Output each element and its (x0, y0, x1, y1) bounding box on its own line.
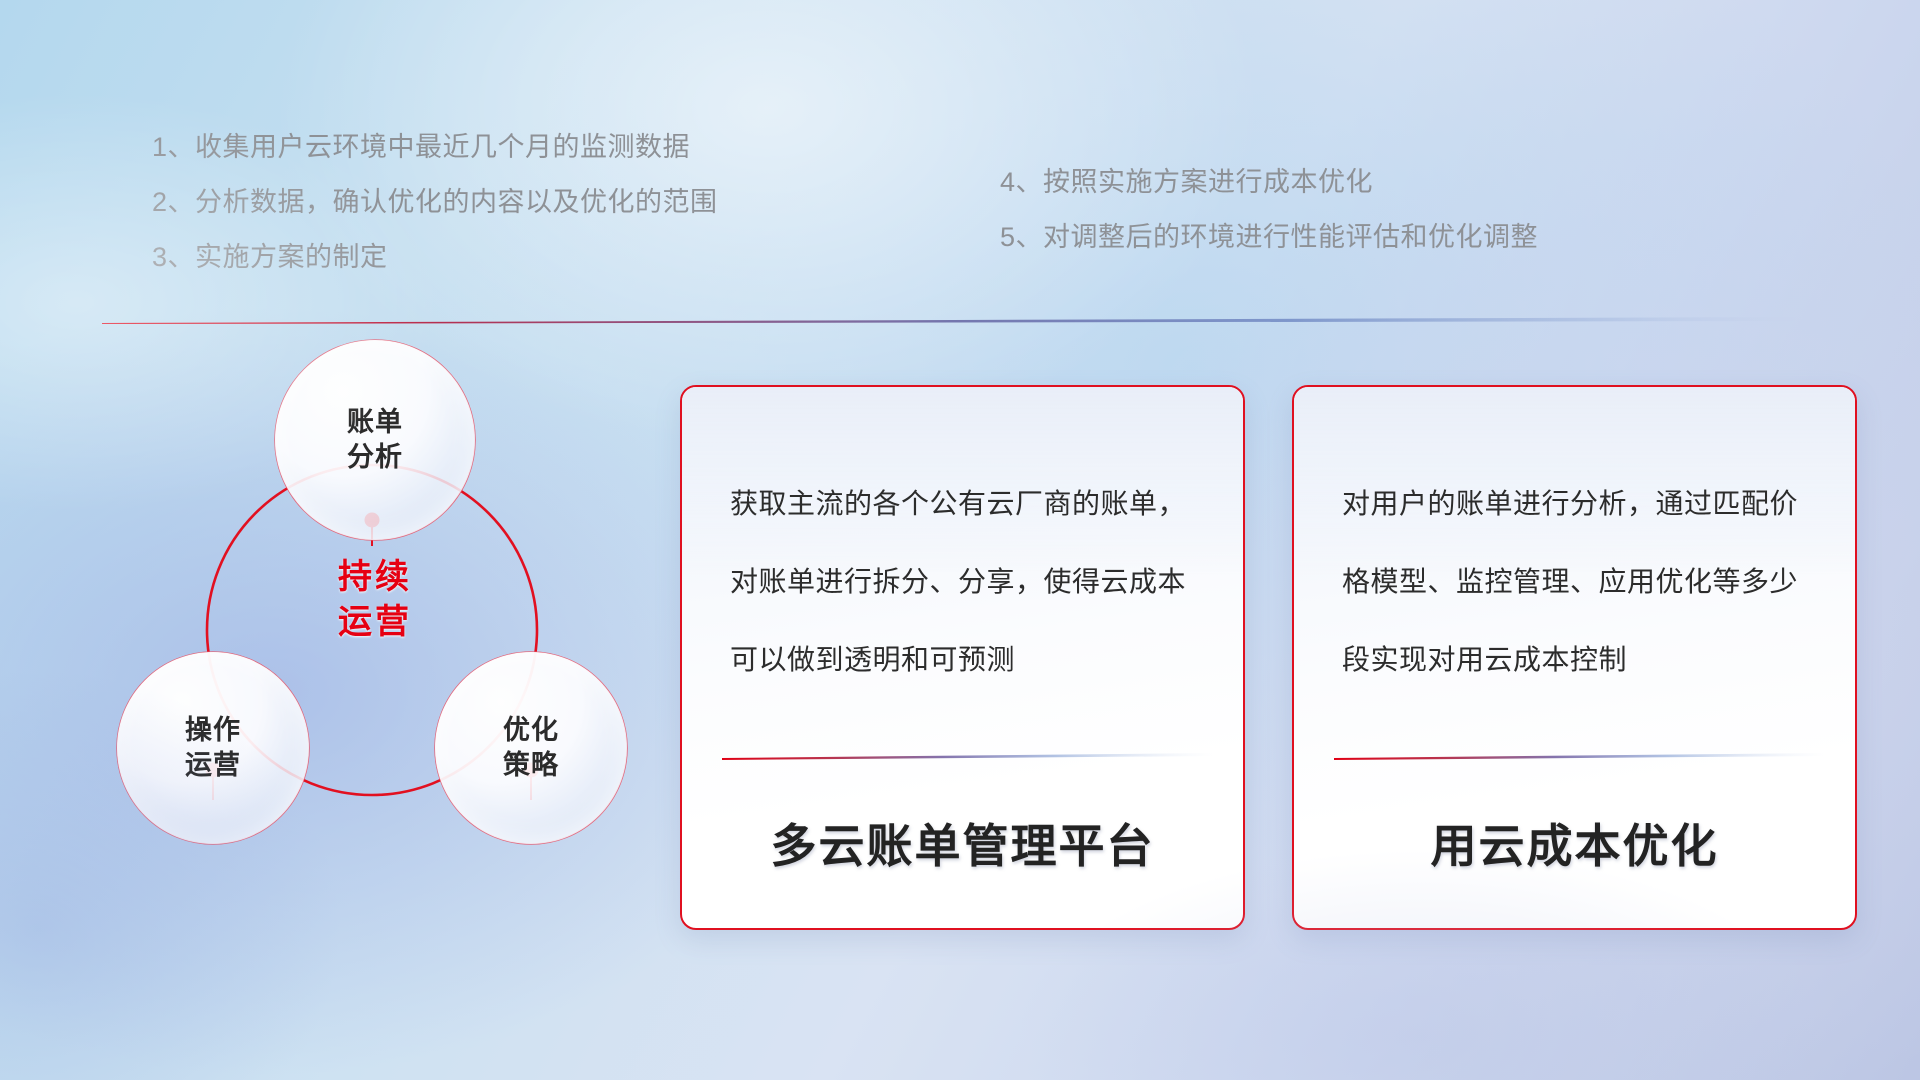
venn-bubble-operations[interactable]: 操作 运营 (117, 652, 309, 844)
card-2-title: 用云成本优化 (1294, 810, 1855, 876)
venn-diagram: 账单 分析 操作 运营 优化 策略 持续 运营 (95, 340, 655, 940)
venn-center-line2: 运营 (295, 600, 455, 645)
slide-root: 1、收集用户云环境中最近几个月的监测数据 2、分析数据，确认优化的内容以及优化的… (0, 0, 1920, 1080)
venn-bubble-top-line1: 账单 (347, 405, 403, 440)
card-2-rule (1334, 751, 1824, 760)
venn-bubble-right-line2: 策略 (503, 748, 559, 783)
card-1-body: 获取主流的各个公有云厂商的账单，对账单进行拆分、分享，使得云成本可以做到透明和可… (682, 387, 1243, 699)
section-divider (102, 313, 1802, 324)
card-2-body: 对用户的账单进行分析，通过匹配价格模型、监控管理、应用优化等多少段实现对用云成本… (1294, 387, 1855, 699)
card-1-rule (722, 751, 1212, 760)
card-multi-cloud-billing-platform[interactable]: 获取主流的各个公有云厂商的账单，对账单进行拆分、分享，使得云成本可以做到透明和可… (680, 385, 1245, 930)
step-item-1: 1、收集用户云环境中最近几个月的监测数据 (152, 120, 718, 175)
venn-bubble-optimization-strategy[interactable]: 优化 策略 (435, 652, 627, 844)
step-item-3: 3、实施方案的制定 (152, 230, 718, 285)
venn-center-label: 持续 运营 (295, 555, 455, 645)
step-item-4: 4、按照实施方案进行成本优化 (1000, 155, 1538, 210)
venn-bubble-left-line1: 操作 (185, 713, 241, 748)
steps-right-column: 4、按照实施方案进行成本优化 5、对调整后的环境进行性能评估和优化调整 (1000, 155, 1538, 265)
venn-bubble-left-line2: 运营 (185, 748, 241, 783)
card-cloud-cost-optimization[interactable]: 对用户的账单进行分析，通过匹配价格模型、监控管理、应用优化等多少段实现对用云成本… (1292, 385, 1857, 930)
steps-left-column: 1、收集用户云环境中最近几个月的监测数据 2、分析数据，确认优化的内容以及优化的… (152, 120, 718, 285)
card-1-title: 多云账单管理平台 (682, 810, 1243, 876)
step-item-5: 5、对调整后的环境进行性能评估和优化调整 (1000, 210, 1538, 265)
venn-bubble-billing-analysis[interactable]: 账单 分析 (275, 340, 475, 540)
venn-center-line1: 持续 (295, 555, 455, 600)
venn-bubble-right-line1: 优化 (503, 713, 559, 748)
venn-bubble-top-line2: 分析 (347, 440, 403, 475)
step-item-2: 2、分析数据，确认优化的内容以及优化的范围 (152, 175, 718, 230)
